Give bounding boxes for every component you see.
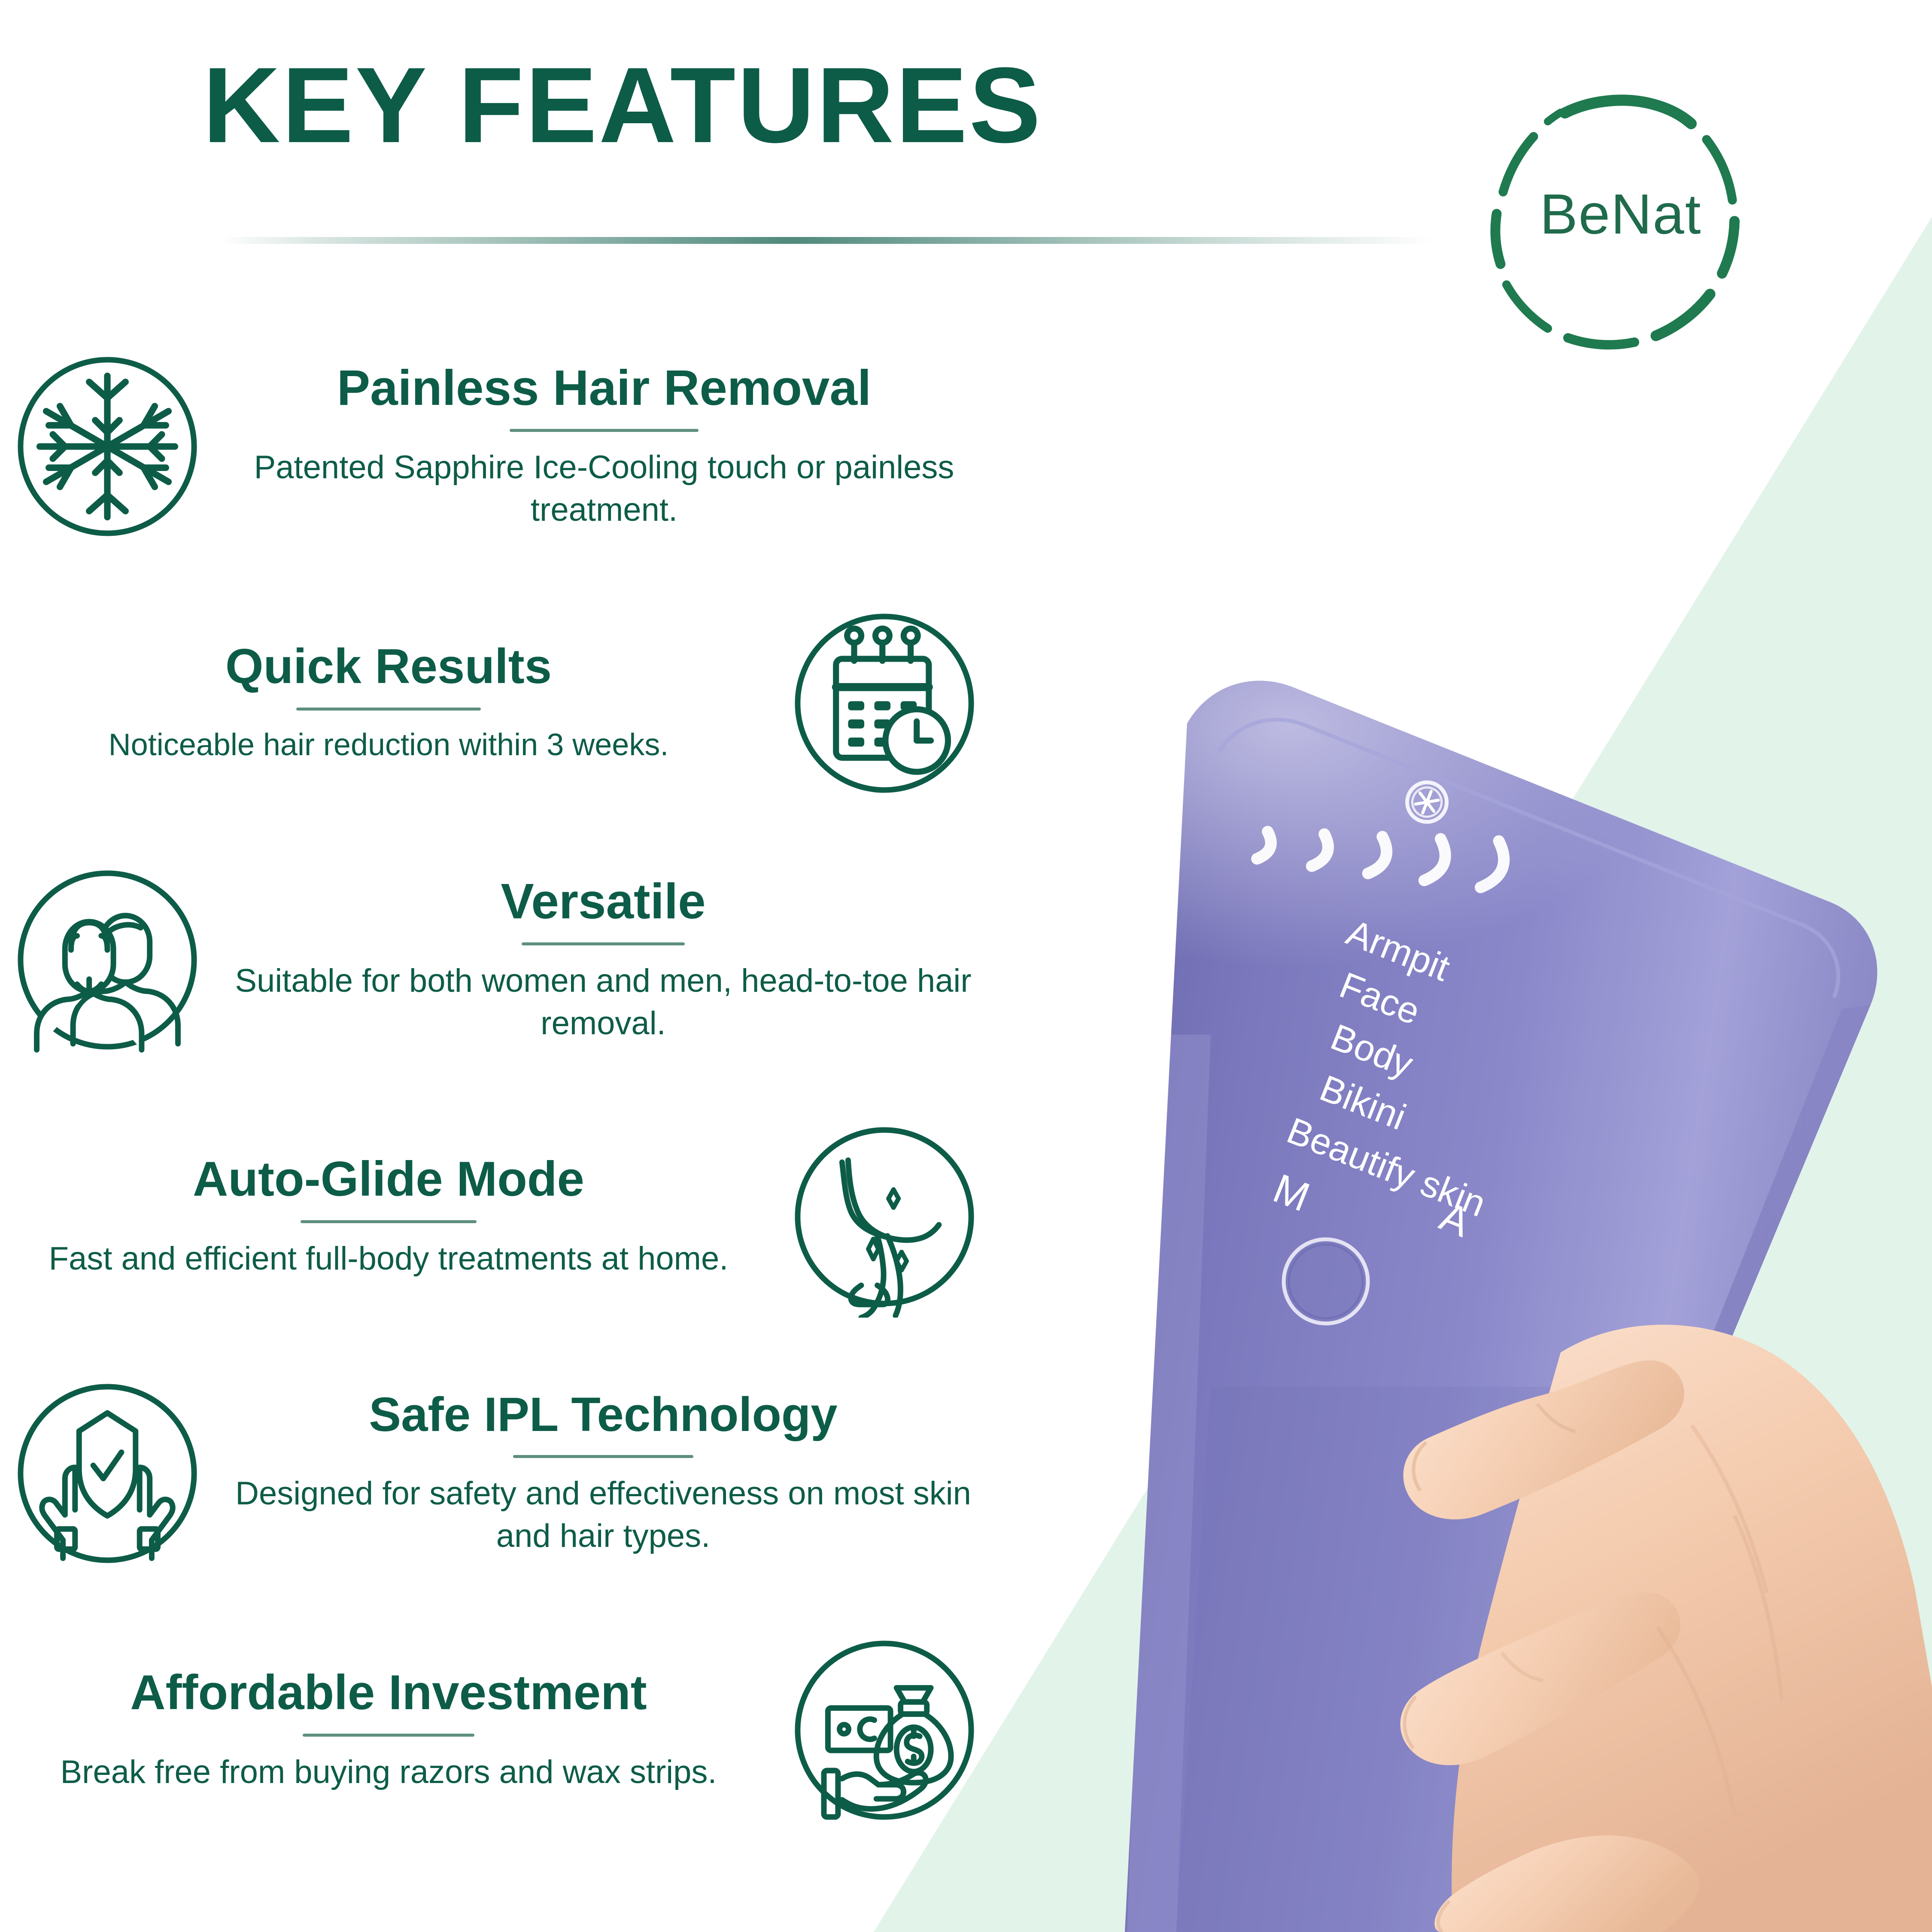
feature-description: Noticeable hair reduction within 3 weeks…: [11, 725, 766, 766]
ipl-handset: Armpit Face Body Bikini Beautify skin M …: [936, 528, 1932, 1932]
feature-text: Auto-Glide Mode Fast and efficient full-…: [0, 1154, 777, 1280]
feature-list: Painless Hair Removal Patented Sapphire …: [0, 326, 992, 1867]
feature-title: Auto-Glide Mode: [11, 1154, 766, 1206]
feature-divider: [513, 1455, 693, 1458]
money-bag-hand-icon: [777, 1623, 992, 1838]
feature-item-quick-results: Quick Results Noticeable hair reduction …: [0, 583, 992, 823]
feature-item-safe-ipl-technology: Safe IPL Technology Designed for safety …: [0, 1353, 992, 1594]
feature-title: Versatile: [226, 875, 981, 928]
feature-title: Painless Hair Removal: [228, 361, 981, 414]
feature-description: Suitable for both women and men, head-to…: [226, 960, 981, 1045]
snowflake-icon: [0, 339, 215, 554]
feature-title: Quick Results: [11, 641, 766, 693]
title-divider: [219, 237, 1434, 244]
feature-description: Patented Sapphire Ice-Cooling touch or p…: [228, 447, 981, 532]
feature-text: Affordable Investment Break free from bu…: [0, 1667, 777, 1794]
feature-item-painless-hair-removal: Painless Hair Removal Patented Sapphire …: [0, 326, 992, 567]
brand-logo: BeNat: [1483, 79, 1758, 354]
feature-divider: [303, 1734, 474, 1737]
feature-item-affordable-investment: Affordable Investment Break free from bu…: [0, 1610, 992, 1850]
feature-divider: [510, 429, 699, 432]
page-title: KEY FEATURES: [0, 52, 1245, 159]
feature-text: Quick Results Noticeable hair reduction …: [0, 641, 777, 765]
feature-description: Break free from buying razors and wax st…: [11, 1751, 766, 1794]
hands-shield-check-icon: [0, 1366, 215, 1581]
feature-title: Safe IPL Technology: [226, 1389, 981, 1440]
feature-divider: [301, 1220, 477, 1223]
feature-description: Designed for safety and effectiveness on…: [226, 1473, 981, 1558]
feature-text: Versatile Suitable for both women and me…: [215, 875, 992, 1045]
feature-text: Painless Hair Removal Patented Sapphire …: [215, 361, 992, 532]
legs-icon: [777, 1109, 992, 1324]
product-photo: Armpit Face Body Bikini Beautify skin M …: [936, 528, 1932, 1932]
header: KEY FEATURES: [0, 0, 1481, 275]
feature-divider: [522, 942, 685, 945]
brand-name: BeNat: [1483, 182, 1758, 246]
feature-item-auto-glide-mode: Auto-Glide Mode Fast and efficient full-…: [0, 1097, 992, 1337]
two-people-icon: [0, 853, 215, 1067]
feature-item-versatile: Versatile Suitable for both women and me…: [0, 840, 992, 1080]
feature-text: Safe IPL Technology Designed for safety …: [215, 1389, 992, 1557]
calendar-clock-icon: [777, 596, 992, 811]
feature-description: Fast and efficient full-body treatments …: [11, 1238, 766, 1280]
feature-title: Affordable Investment: [11, 1667, 766, 1719]
feature-divider: [296, 708, 481, 711]
